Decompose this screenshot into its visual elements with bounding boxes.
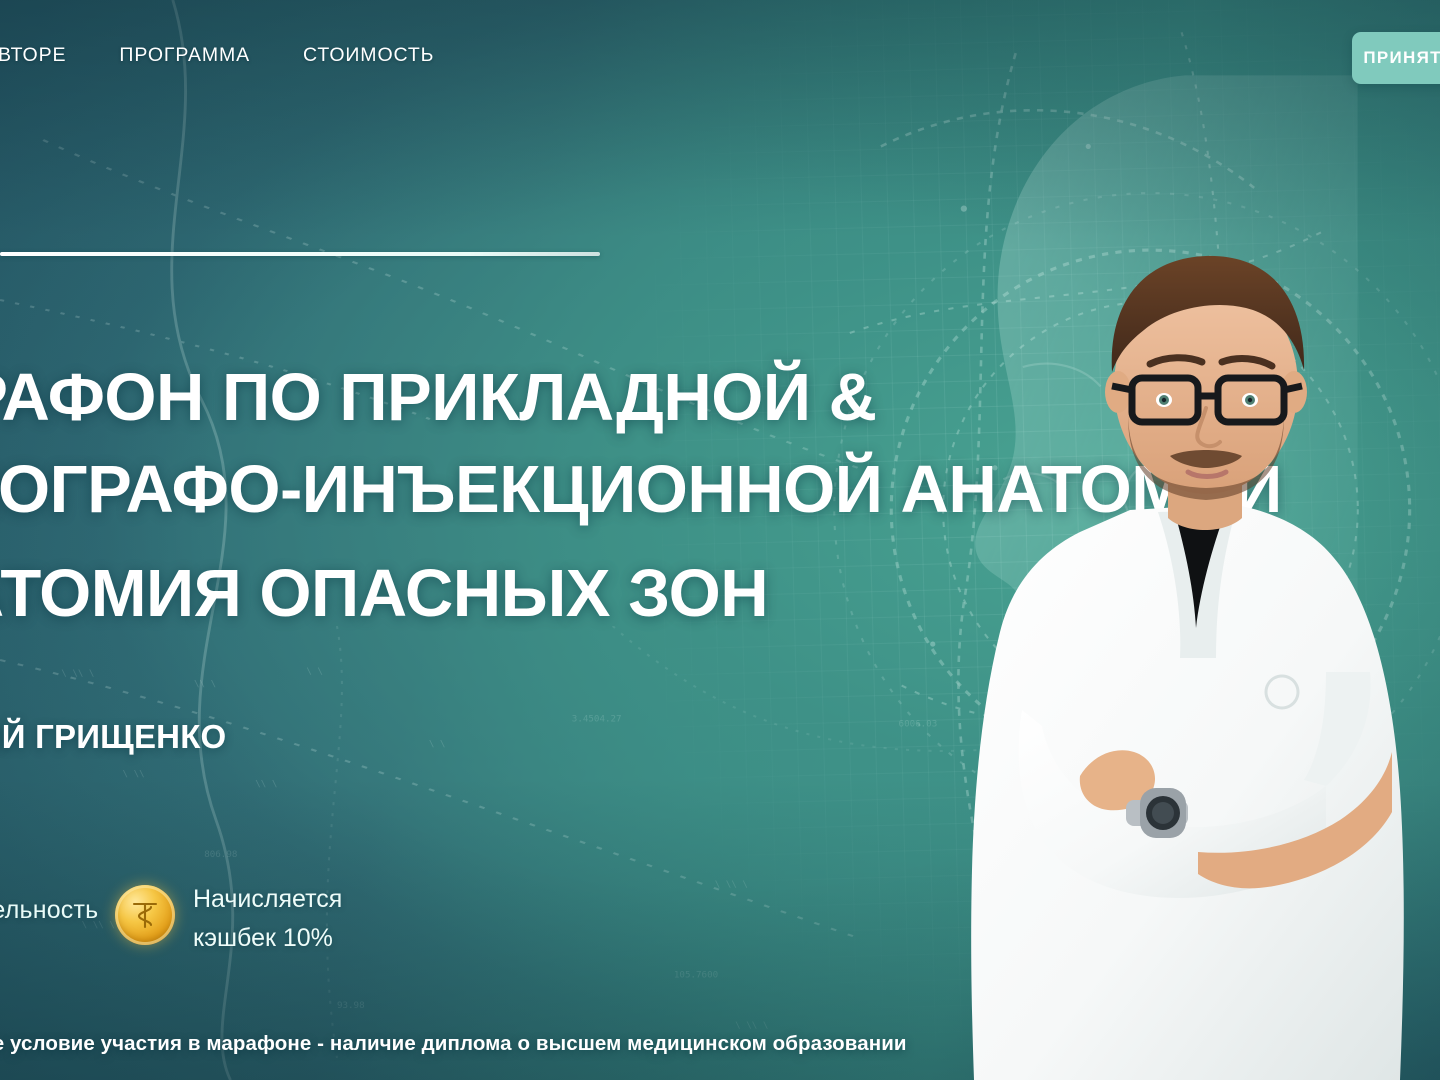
nav-price[interactable]: СТОИМОСТЬ xyxy=(303,44,434,67)
primary-nav: ОБ АВТОРЕ ПРОГРАММА СТОИМОСТЬ xyxy=(0,44,434,67)
hero-facts-row: Продолжительность Начисляется кэшбек 10% xyxy=(0,880,500,958)
nav-about-author[interactable]: ОБ АВТОРЕ xyxy=(0,44,66,67)
hero-divider-rule xyxy=(0,252,600,256)
top-navigation-bar: ОБ АВТОРЕ ПРОГРАММА СТОИМОСТЬ xyxy=(0,0,1440,110)
duration-label: Продолжительность xyxy=(0,880,115,925)
coin-icon xyxy=(115,885,175,945)
headline-line-1: МАРАФОН ПО ПРИКЛАДНОЙ & xyxy=(0,352,940,444)
participation-requirement-note: Обязательное условие участия в марафоне … xyxy=(0,1032,1258,1056)
cashback-text: Начисляется кэшбек 10% xyxy=(193,880,342,958)
nav-program[interactable]: ПРОГРАММА xyxy=(119,44,250,67)
cashback-block: Начисляется кэшбек 10% xyxy=(115,880,342,958)
headline-line-2: ТОПОГРАФО-ИНЪЕКЦИОННОЙ АНАТОМИИ xyxy=(0,444,940,536)
headline-line-3: АНАТОМИЯ ОПАСНЫХ ЗОН xyxy=(0,548,940,640)
page-title: МАРАФОН ПО ПРИКЛАДНОЙ & ТОПОГРАФО-ИНЪЕКЦ… xyxy=(0,352,940,640)
cashback-line-2: кэшбек 10% xyxy=(193,919,342,958)
hero-section: МАРАФОН ПО ПРИКЛАДНОЙ & ТОПОГРАФО-ИНЪЕКЦ… xyxy=(0,0,960,1080)
cashback-line-1: Начисляется xyxy=(193,880,342,919)
page-viewport: \ \\ \\\ \ \ \\ \\ \\ \\ \ 3.4504.276006… xyxy=(0,0,1440,1080)
author-name: ДМИТРИЙ ГРИЩЕНКО xyxy=(0,718,226,756)
